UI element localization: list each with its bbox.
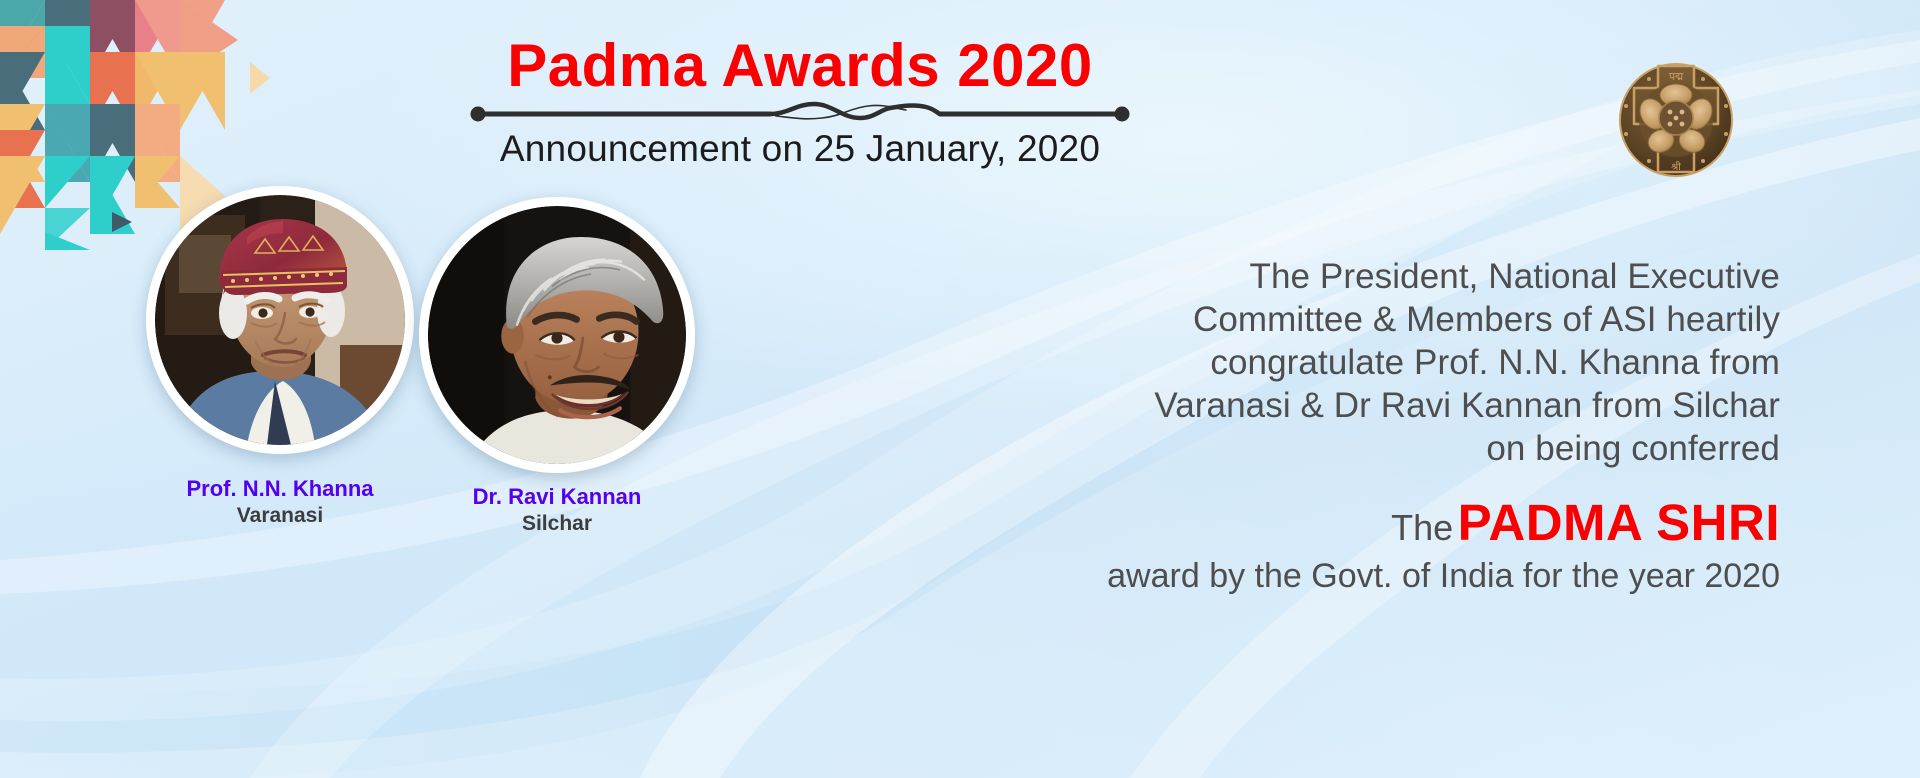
- ornamental-swirl-divider: [470, 100, 1130, 126]
- honoree-city-2: Silchar: [419, 512, 695, 536]
- honoree-card-1: Prof. N.N. Khanna Varanasi: [146, 186, 414, 528]
- honoree-card-2: Dr. Ravi Kannan Silchar: [419, 197, 695, 536]
- award-name: PADMA SHRI: [1458, 494, 1780, 551]
- honoree-name-1: Prof. N.N. Khanna: [146, 476, 414, 501]
- banner-header: Padma Awards 2020 Announcement on 25 Jan…: [430, 34, 1170, 170]
- message-line-4: Varanasi & Dr Ravi Kannan from Silchar: [900, 384, 1780, 427]
- message-line-3: congratulate Prof. N.N. Khanna from: [900, 341, 1780, 384]
- announcement-subtitle: Announcement on 25 January, 2020: [430, 128, 1170, 170]
- award-prefix: The: [1391, 507, 1453, 548]
- portrait-photo-ravi-kannan: [428, 206, 686, 464]
- award-headline: The PADMA SHRI: [900, 497, 1780, 548]
- padma-award-medal-icon: पद्म श्री: [1606, 48, 1746, 188]
- portrait-photo-nn-khanna: [155, 195, 405, 445]
- honoree-name-2: Dr. Ravi Kannan: [419, 484, 695, 509]
- padma-awards-banner: पद्म श्री Padma Awards 2020 Announcement…: [0, 0, 1920, 778]
- svg-text:श्री: श्री: [1671, 161, 1681, 173]
- message-line-2: Committee & Members of ASI heartily: [900, 298, 1780, 341]
- message-line-1: The President, National Executive: [900, 255, 1780, 298]
- avatar: [419, 197, 695, 473]
- avatar: [146, 186, 414, 454]
- honoree-city-1: Varanasi: [146, 504, 414, 528]
- message-line-5: on being conferred: [900, 427, 1780, 470]
- award-footer: award by the Govt. of India for the year…: [900, 557, 1780, 596]
- congratulation-message: The President, National Executive Commit…: [900, 255, 1780, 596]
- page-title: Padma Awards 2020: [430, 34, 1170, 98]
- svg-text:पद्म: पद्म: [1669, 71, 1684, 83]
